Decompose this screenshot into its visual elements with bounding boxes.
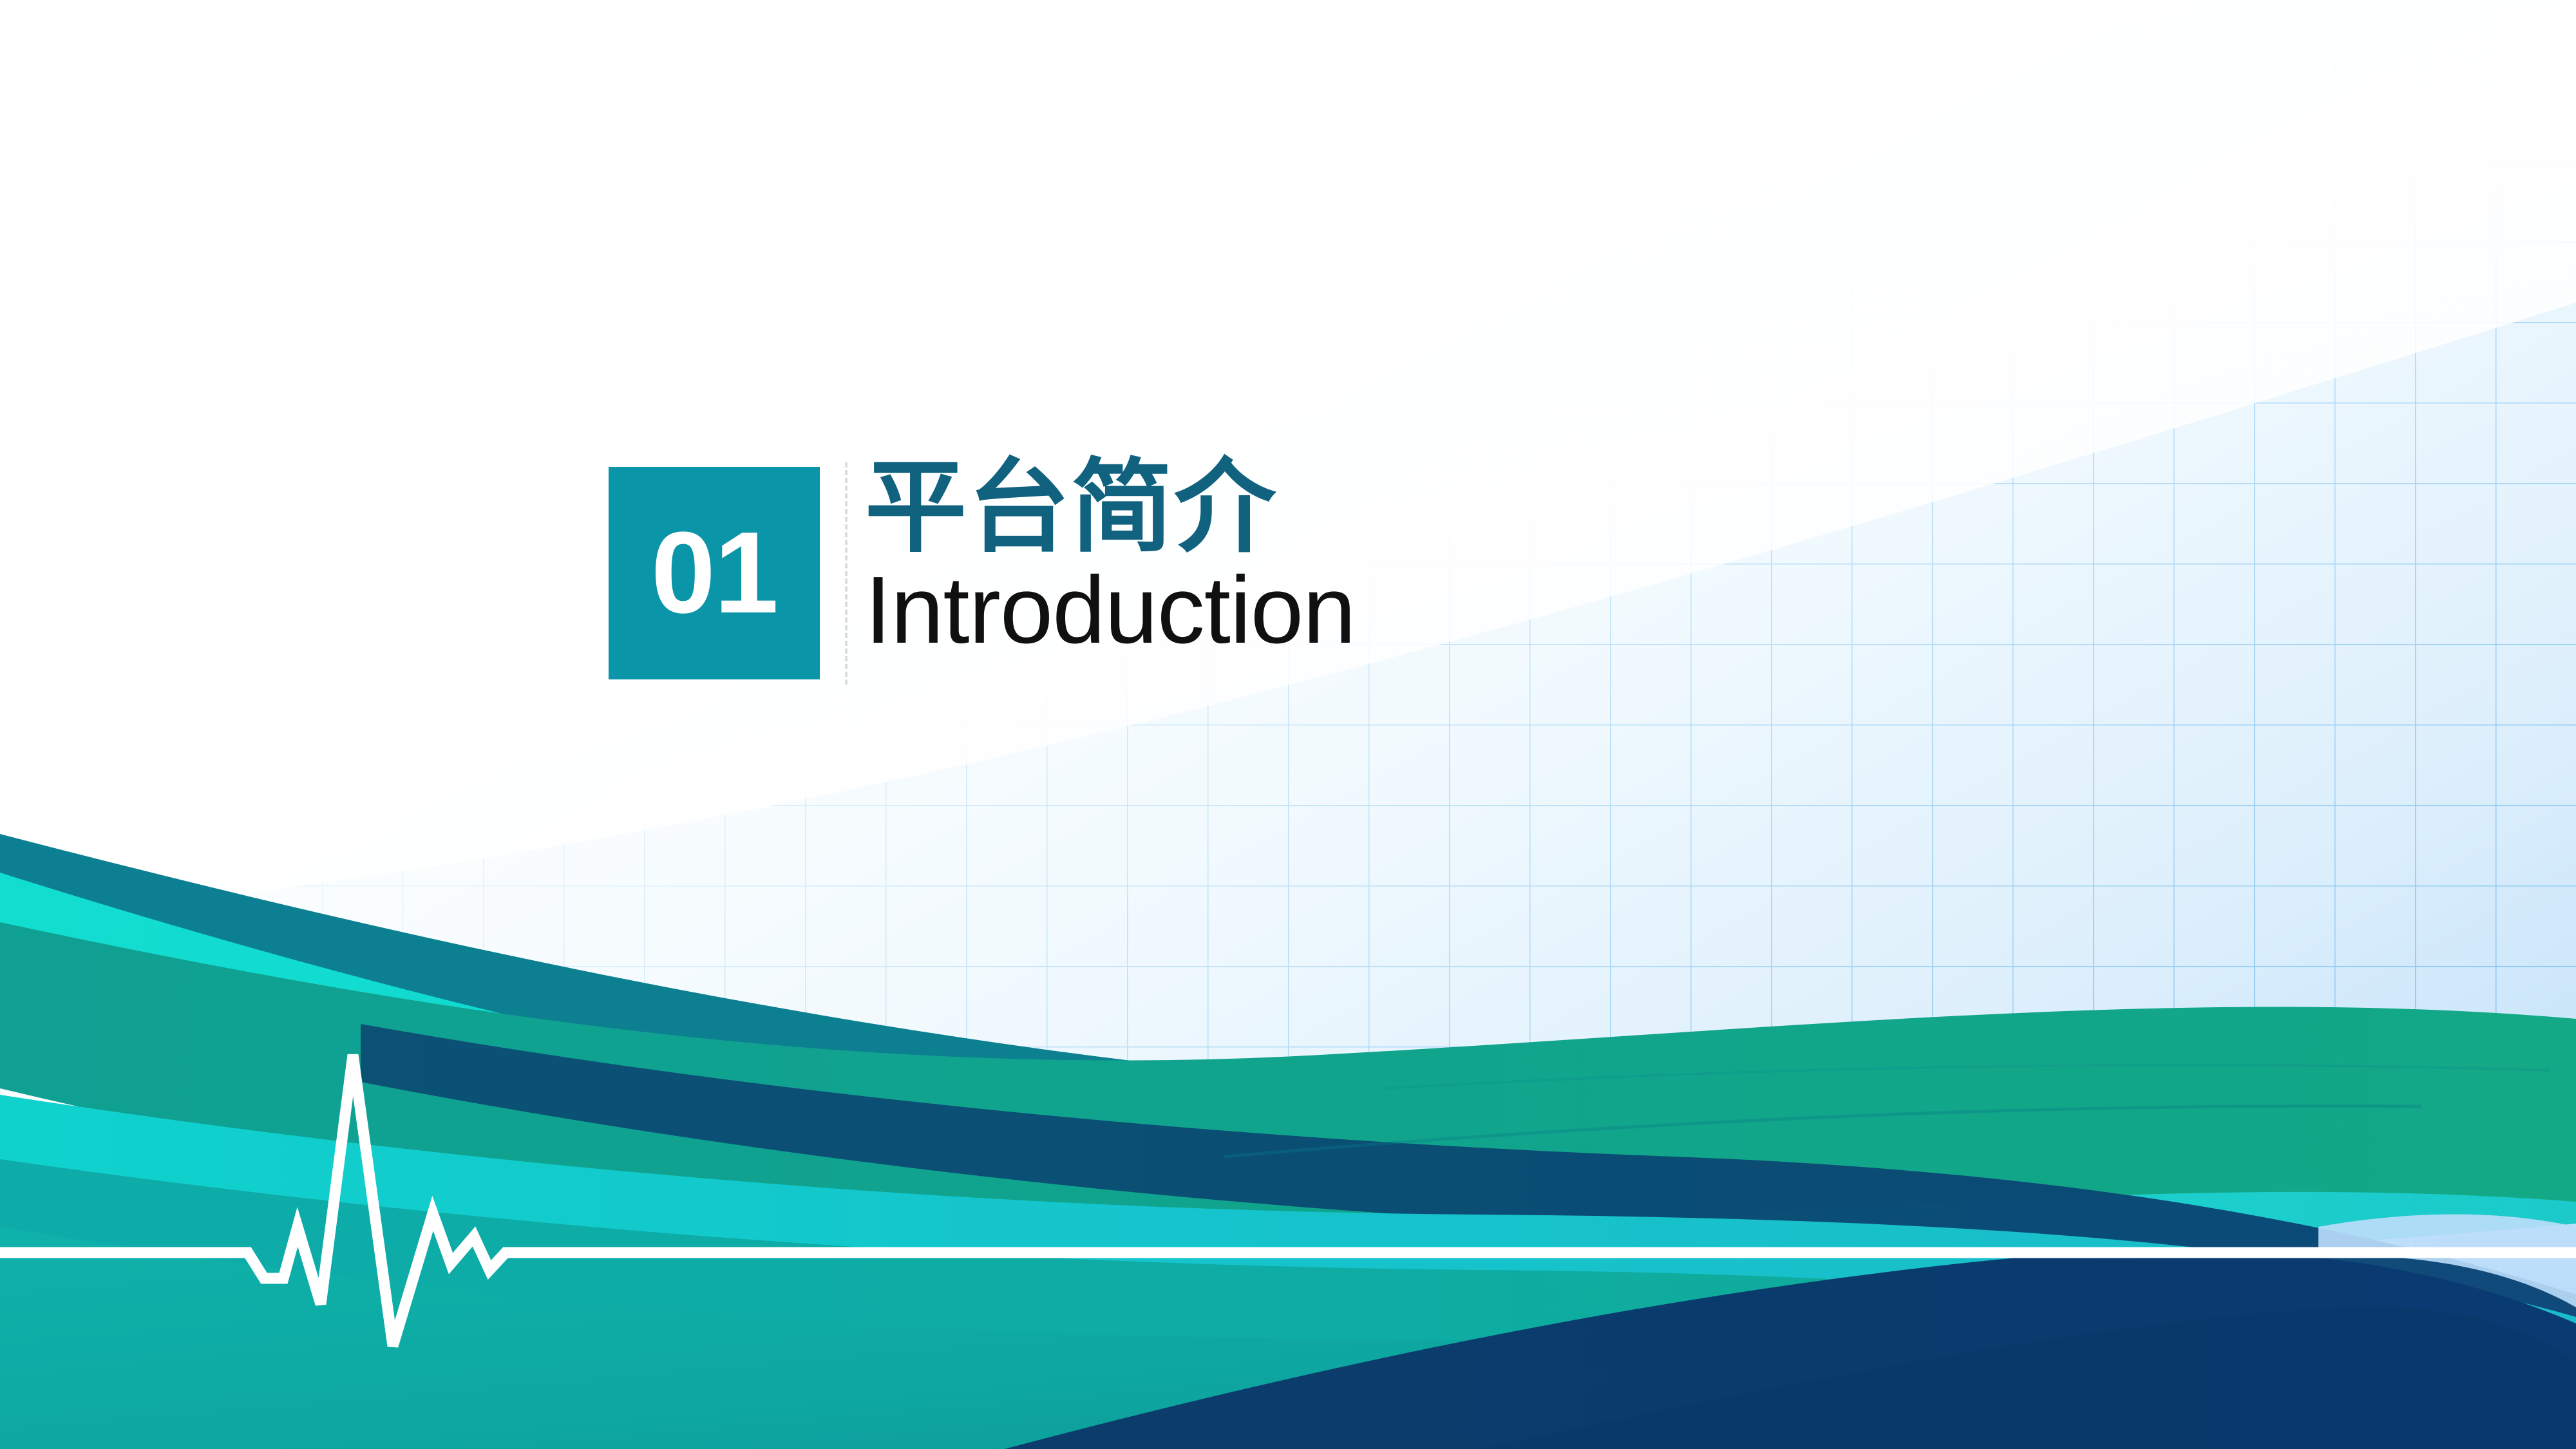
slide-root: 01 平台简介 Introduction: [0, 0, 2576, 1449]
section-title-chinese: 平台简介: [865, 451, 1870, 565]
section-title-text-group: 平台简介 Introduction: [865, 451, 1870, 663]
section-title-english: Introduction: [865, 558, 1870, 663]
section-title-block: 01 平台简介 Introduction: [609, 451, 1897, 708]
vertical-dashed-divider: [845, 462, 848, 685]
section-number-badge: 01: [609, 467, 820, 679]
section-number-label: 01: [651, 515, 777, 631]
background-artwork: [0, 0, 2576, 1449]
